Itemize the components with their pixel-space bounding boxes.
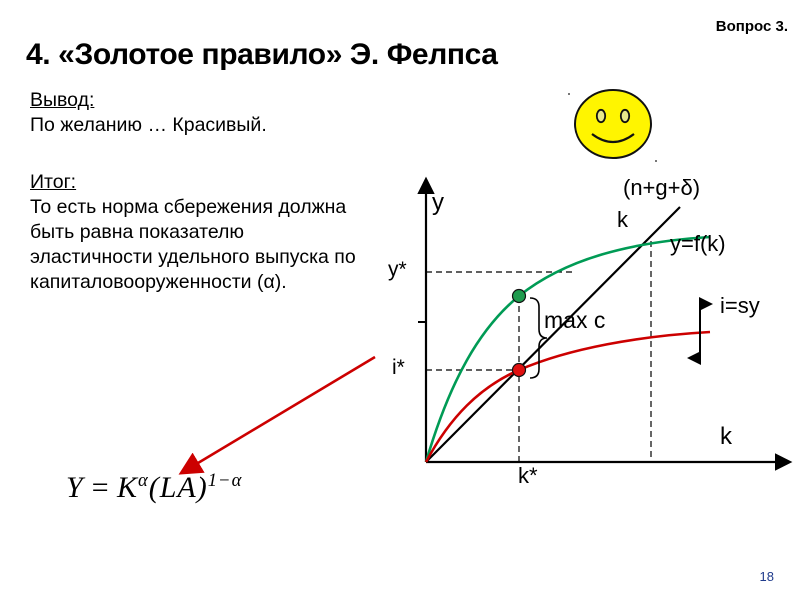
formula-equals: =	[84, 471, 117, 504]
x-axis-label: k	[720, 423, 732, 451]
red-pointer-arrow	[150, 355, 390, 490]
golden-rule-point-red	[513, 364, 526, 377]
max-consumption-label: max c	[544, 307, 605, 334]
question-tag: Вопрос 3.	[716, 18, 788, 35]
page-title: 4. «Золотое правило» Э. Фелпса	[26, 38, 498, 72]
formula-base-k: K	[117, 471, 138, 504]
speck-bottom-right	[655, 160, 657, 162]
conclusion-heading: Вывод:	[30, 88, 94, 113]
speck-top-left	[568, 93, 570, 95]
y-star-tick-label: y*	[388, 258, 407, 282]
solow-golden-rule-chart: y k y* i* k* (n+g+δ) k y=f(k) i=sy max c	[380, 165, 800, 495]
golden-rule-point-green	[513, 290, 526, 303]
y-axis-label: y	[432, 189, 444, 217]
conclusion-text: По желанию … Красивый.	[30, 113, 267, 138]
saving-function-label: i=sy	[720, 293, 760, 319]
saving-function-curve	[426, 332, 710, 462]
depreciation-line-label-top: (n+g+δ)	[623, 175, 700, 201]
formula-lhs: Y	[66, 471, 84, 504]
result-body-text: То есть норма сбережения должна быть рав…	[30, 195, 360, 295]
slide: Вопрос 3. 4. «Золотое правило» Э. Фелпса…	[0, 0, 800, 600]
production-function-label: y=f(k)	[670, 231, 726, 257]
result-heading: Итог:	[30, 170, 76, 195]
k-star-tick-label: k*	[518, 463, 538, 489]
page-number: 18	[760, 569, 774, 584]
smiley-face-icon	[572, 88, 654, 160]
i-star-tick-label: i*	[392, 356, 405, 380]
depreciation-line-label-bottom: k	[617, 207, 628, 233]
production-function-curve	[426, 237, 710, 462]
formula-exponent-alpha: α	[138, 470, 149, 491]
